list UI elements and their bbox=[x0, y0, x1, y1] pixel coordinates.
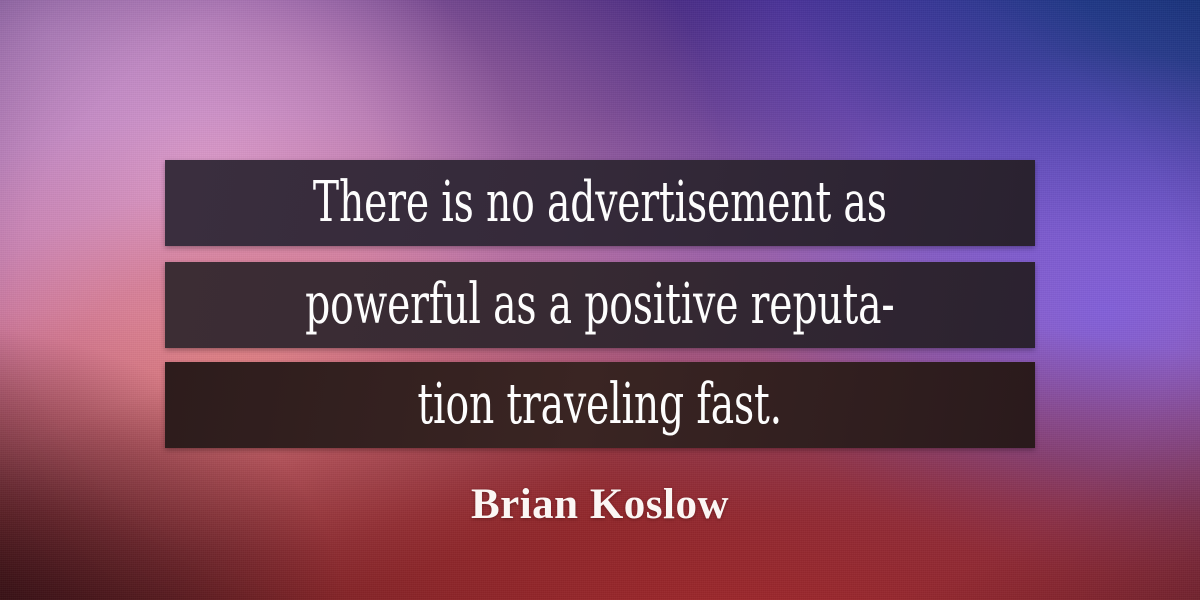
quote-line-text: powerful as a positive reputa- bbox=[305, 277, 894, 333]
quote-card: There is no advertisement as powerful as… bbox=[0, 0, 1200, 600]
quote-line-band: There is no advertisement as bbox=[165, 160, 1035, 246]
quote-line-text: tion traveling fast. bbox=[418, 377, 783, 433]
quote-line-band: tion traveling fast. bbox=[165, 362, 1035, 448]
author-name: Brian Koslow bbox=[0, 483, 1200, 526]
quote-line-text: There is no advertisement as bbox=[313, 175, 887, 231]
quote-line-band: powerful as a positive reputa- bbox=[165, 262, 1035, 348]
